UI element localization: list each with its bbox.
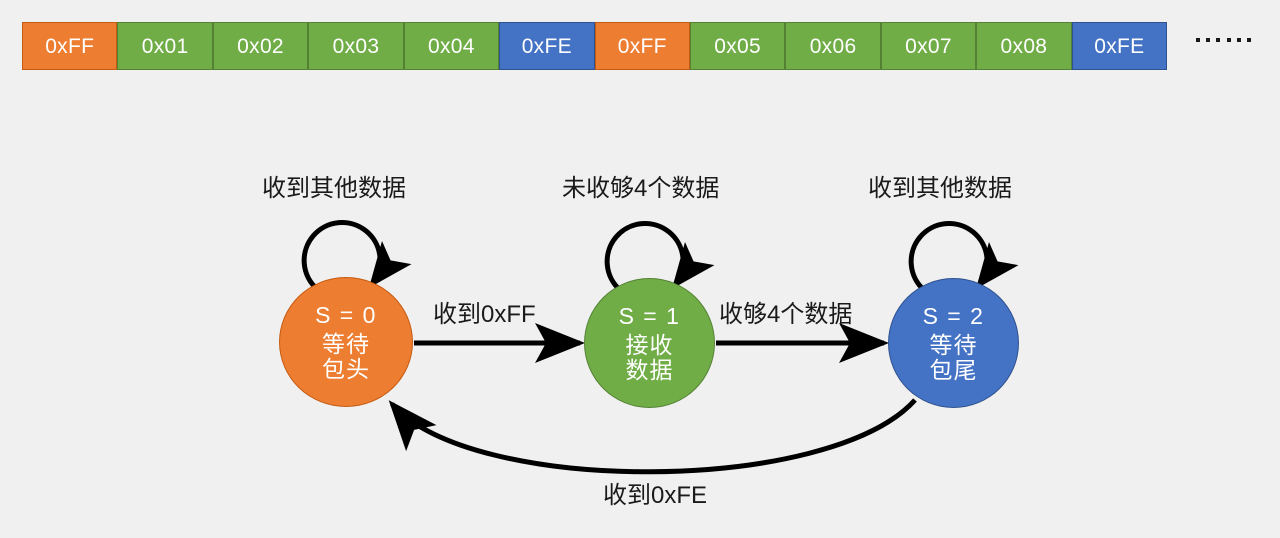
transition-arrow-s2-s0 [392,400,915,472]
self-loop-label-state-1: 未收够4个数据 [562,177,719,201]
state-s2-line2: 包尾 [930,359,978,382]
transition-label-s0-s1: 收到0xFF [433,303,536,327]
state-s1-id: S = 1 [619,305,681,328]
transition-label-s1-s2: 收够4个数据 [719,303,852,327]
self-loop-label-state-2: 收到其他数据 [868,177,1012,201]
state-node-s0[interactable]: S = 0 等待 包头 [279,277,413,407]
state-s0-line2: 包头 [322,358,370,381]
state-s2-id: S = 2 [923,305,985,328]
state-s0-id: S = 0 [315,304,377,327]
transition-label-s2-s0: 收到0xFE [603,484,707,508]
state-s0-line1: 等待 [322,333,370,356]
self-loop-label-state-0: 收到其他数据 [262,177,406,201]
state-machine-diagram: S = 0 等待 包头 S = 1 接收 数据 S = 2 等待 包尾 收到其他… [0,0,1280,538]
state-node-s1[interactable]: S = 1 接收 数据 [584,278,715,408]
state-node-s2[interactable]: S = 2 等待 包尾 [888,278,1019,408]
state-s1-line2: 数据 [626,359,674,382]
state-s1-line1: 接收 [626,334,674,357]
state-s2-line1: 等待 [930,334,978,357]
fsm-edges-layer [0,0,1280,538]
